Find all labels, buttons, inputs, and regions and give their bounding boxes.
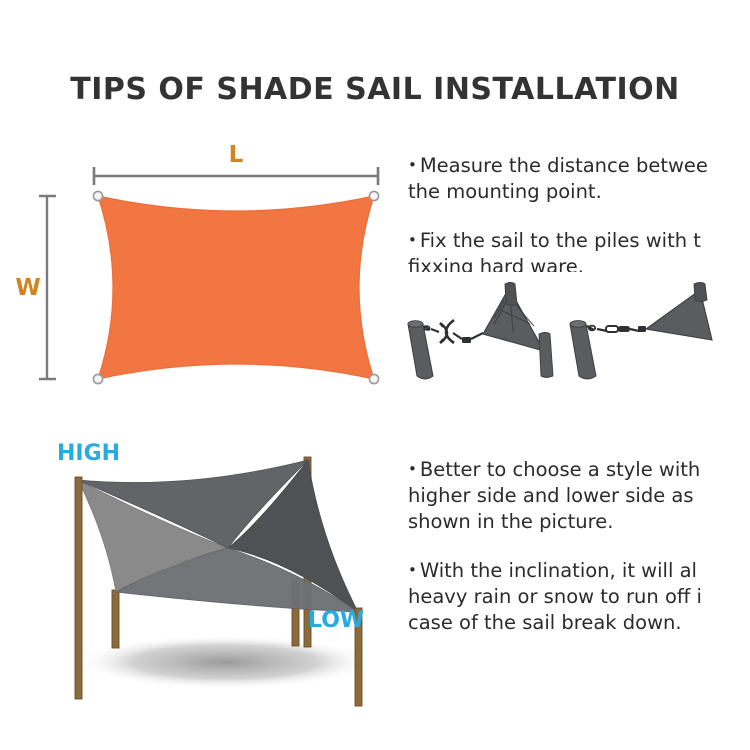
tip-line: fixxing hard ware. [408,255,584,272]
tip-line: With the inclination, it will al [420,559,697,582]
tip-measure-distance: •Measure the distance betwee the mountin… [408,152,750,205]
tip-fix-sail-to-piles: •Fix the sail to the piles with t fixxin… [408,227,750,272]
width-label: W [15,275,40,301]
tips-text-top: •Measure the distance betwee the mountin… [408,152,750,272]
shackle-icon [462,333,483,343]
tip-line: higher side and lower side as [408,484,694,507]
grommet-bottom-right [369,374,378,383]
high-label: HIGH [57,441,120,466]
tip-line: Better to choose a style with [420,458,700,481]
tip-line: case of the sail break down. [408,611,682,634]
sail-corner [646,283,712,341]
tip-line: heavy rain or snow to run off i [408,585,702,608]
ground-shadow [77,635,373,689]
tip-choose-high-low-style: •Better to choose a style with higher si… [408,456,750,535]
chain-link-icon [597,326,646,332]
infographic-page: TIPS OF SHADE SAIL INSTALLATION [0,0,750,750]
grommet-bottom-left [93,374,102,383]
grommet-top-right [369,191,378,200]
length-dimension-line [94,167,378,185]
hardware-diagram [400,282,750,400]
hardware-item-turnbuckle [408,283,553,380]
post-tall-left [75,477,82,699]
tip-inclination-runoff: •With the inclination, it will al heavy … [408,557,750,636]
sail-corner-patch [483,283,553,378]
page-title: TIPS OF SHADE SAIL INSTALLATION [0,72,750,107]
dimension-diagram: L W [20,140,400,405]
tip-line: Measure the distance betwee [420,154,708,177]
grommet-top-left [93,191,102,200]
tip-line: Fix the sail to the piles with t [420,229,701,252]
turnbuckle-icon [431,320,462,343]
post-short-mid [112,590,119,648]
length-label: L [229,142,244,168]
orange-shade-sail [98,196,374,379]
width-dimension-line [39,196,56,379]
tip-line: shown in the picture. [408,510,613,533]
tips-text-bottom: •Better to choose a style with higher si… [408,456,750,646]
snap-hook-icon [424,326,430,330]
bullet-icon: • [408,156,420,174]
bullet-icon: • [408,231,420,249]
hardware-item-chain [570,283,712,380]
tip-line: the mounting point. [408,180,602,203]
low-label: LOW [308,608,364,633]
scene-diagram: HIGH LOW [20,430,410,715]
bullet-icon: • [408,460,420,478]
carabiner-icon [587,326,595,331]
bullet-icon: • [408,561,420,579]
